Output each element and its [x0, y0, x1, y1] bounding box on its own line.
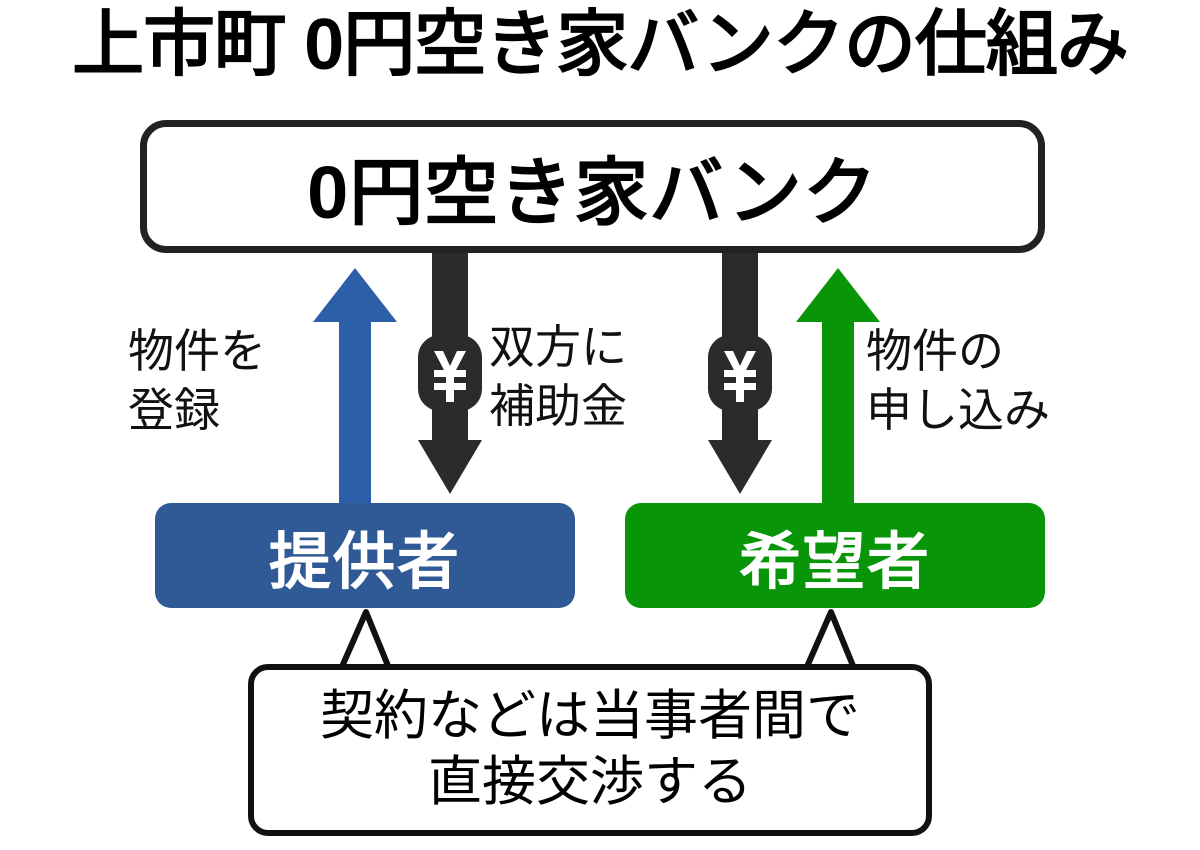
flow-label-subsidy: 双方に 補助金 — [489, 318, 627, 436]
actor-box-seeker-label: 希望者 — [739, 511, 931, 601]
bank-box: 0円空き家バンク — [140, 120, 1045, 253]
arrow-down-icon-subsidy-right — [708, 253, 772, 494]
callout-line-2: 直接交渉する — [428, 750, 752, 816]
yen-icon-left — [418, 335, 482, 411]
actor-box-provider: 提供者 — [155, 503, 575, 608]
actor-box-seeker: 希望者 — [625, 503, 1045, 608]
infographic-canvas: 上市町 0円空き家バンクの仕組み 0円空き家バンク — [0, 0, 1200, 850]
actor-box-provider-label: 提供者 — [269, 511, 461, 601]
arrow-up-icon-register — [313, 268, 397, 512]
bank-box-label: 0円空き家バンク — [307, 133, 878, 240]
yen-icon-right — [708, 335, 772, 411]
arrow-down-icon-subsidy-left — [418, 253, 482, 494]
flow-label-register: 物件を 登録 — [128, 322, 266, 440]
page-title: 上市町 0円空き家バンクの仕組み — [0, 8, 1200, 84]
callout-line-1: 契約などは当事者間で — [320, 684, 860, 750]
callout-box: 契約などは当事者間で 直接交渉する — [248, 664, 932, 836]
flow-label-apply: 物件の 申し込み — [866, 322, 1050, 440]
